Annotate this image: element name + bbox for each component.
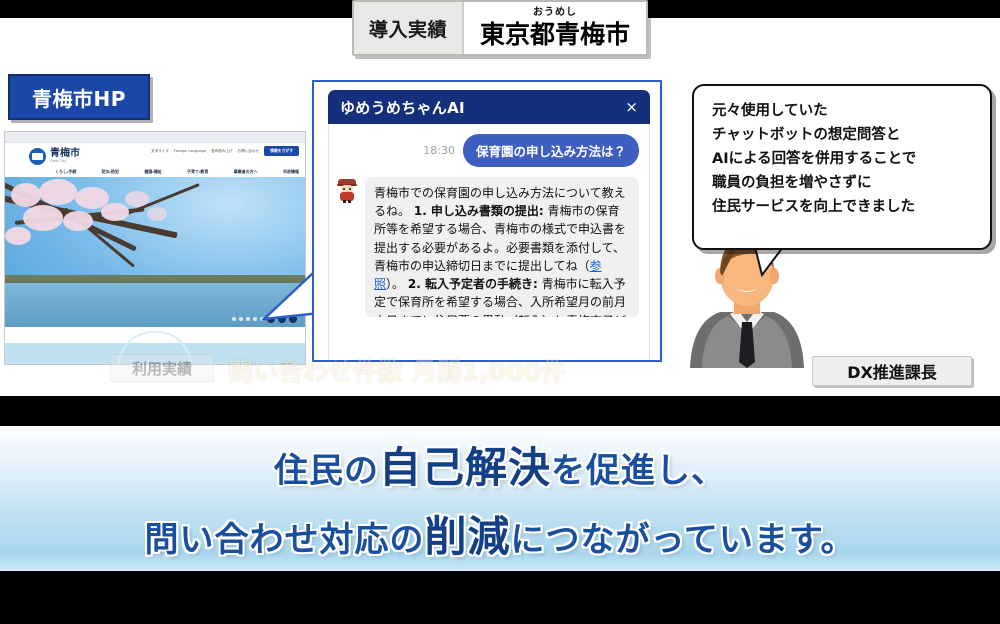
bot-avatar-mascot-icon (337, 179, 359, 205)
banner-line-1: 住民の自己解決を促進し、 (274, 434, 726, 495)
chat-title: ゆめうめちゃんAI (340, 97, 465, 118)
bot-item2-label: 2. 転入予定者の手続き: (408, 277, 538, 291)
person-nameplate: DX推進課長 (812, 356, 972, 386)
heading-plate: 導入実績 おうめし 東京都青梅市 (352, 0, 648, 56)
testimonial-balloon: 元々使用していた チャットボットの想定問答と AIによる回答を併用することで 職… (692, 84, 992, 250)
usage-stats-tag: 利用実績 (110, 354, 214, 382)
gnav-item-3[interactable]: 子育て・教育 (187, 169, 208, 175)
site-header: 青梅市 Ome City 文字サイズ Foreign Language 音声読み… (5, 143, 305, 177)
top-stage: 導入実績 おうめし 東京都青梅市 青梅市HP 青梅市 Ome City 文字サイ… (0, 0, 1000, 396)
conclusion-banner: 住民の自己解決を促進し、 問い合わせ対応の削減につながっています。 (0, 426, 1000, 571)
chat-panel: ゆめうめちゃんAI × 18:30 保育園の申し込み方法は？ 青梅市での保育園の… (328, 90, 650, 360)
bottom-black-band (0, 571, 1000, 624)
utility-item-0[interactable]: 文字サイズ (151, 149, 169, 154)
message-timestamp: 18:30 (423, 144, 455, 157)
gnav-item-0[interactable]: くらし・手続 (55, 169, 76, 175)
site-global-nav[interactable]: くらし・手続 防災・防犯 健康・福祉 子育て・教育 事業者の方へ 市政情報 (55, 169, 299, 175)
chat-message-list[interactable]: 18:30 保育園の申し込み方法は？ 青梅市での保育園の申し込み方法について教え… (328, 124, 650, 360)
gnav-item-4[interactable]: 事業者の方へ (234, 169, 258, 175)
website-screenshot[interactable]: 青梅市 Ome City 文字サイズ Foreign Language 音声読み… (4, 131, 306, 365)
usage-stats-value: 問い合わせ件数 月間1,000件 (228, 352, 566, 388)
balloon-line-1: チャットボットの想定問答と (712, 124, 976, 146)
heading-title: 東京都青梅市 (480, 15, 630, 51)
bot-message-bubble: 青梅市での保育園の申し込み方法について教えるね。 1. 申し込み書類の提出: 青… (365, 177, 639, 317)
balloon-line-4: 住民サービスを向上できました (712, 196, 976, 218)
site-logo[interactable]: 青梅市 Ome City (29, 148, 80, 165)
heading-title-box: おうめし 東京都青梅市 (462, 2, 646, 54)
hp-tag-label: 青梅市HP (32, 83, 126, 112)
site-search-button[interactable]: 情報をさがす (264, 146, 299, 156)
banner-line2-highlight: 削減 (425, 512, 511, 561)
utility-item-3[interactable]: お問い合わせ (238, 149, 260, 154)
balloon-line-2: AIによる回答を併用することで (712, 148, 976, 170)
balloon-line-0: 元々使用していた (712, 100, 976, 122)
section-divider (0, 396, 1000, 426)
user-message-bubble: 保育園の申し込み方法は？ (463, 134, 639, 167)
hp-tag: 青梅市HP (8, 74, 150, 120)
gnav-item-1[interactable]: 防災・防犯 (102, 169, 119, 175)
banner-line1-highlight: 自己解決 (379, 443, 551, 492)
heading-badge: 導入実績 (354, 2, 462, 54)
banner-line1-part-c: を促進し、 (551, 451, 726, 491)
site-logo-text: 青梅市 Ome City (50, 149, 80, 164)
banner-line2-part-a: 問い合わせ対応の (145, 520, 425, 560)
gnav-item-2[interactable]: 健康・福祉 (144, 169, 161, 175)
chat-row-user: 18:30 保育園の申し込み方法は？ (337, 134, 639, 167)
utility-item-1[interactable]: Foreign Language (174, 149, 206, 153)
utility-item-2[interactable]: 音声読み上げ (211, 149, 233, 154)
chat-row-bot: 青梅市での保育園の申し込み方法について教えるね。 1. 申し込み書類の提出: 青… (337, 177, 639, 317)
site-hero-photo (5, 177, 305, 327)
gnav-item-5[interactable]: 市政情報 (283, 169, 299, 175)
ome-city-emblem-icon (29, 148, 46, 165)
chat-header: ゆめうめちゃんAI × (328, 90, 650, 124)
banner-line1-part-a: 住民の (274, 451, 379, 491)
banner-line2-part-c: につながっています。 (511, 520, 856, 560)
balloon-line-3: 職員の負担を増やさずに (712, 172, 976, 194)
person-illustration (672, 236, 822, 368)
person-nameplate-label: DX推進課長 (847, 359, 937, 383)
site-utility-nav[interactable]: 文字サイズ Foreign Language 音声読み上げ お問い合わせ 情報を… (151, 146, 299, 156)
banner-line-2: 問い合わせ対応の削減につながっています。 (145, 503, 856, 564)
bot-item1-tail: ）。 (386, 277, 404, 291)
close-icon[interactable]: × (625, 100, 638, 115)
heading-ruby: おうめし (464, 3, 646, 18)
bot-item1-label: 1. 申し込み書類の提出: (414, 204, 544, 218)
browser-chrome-bar (5, 132, 305, 143)
chat-window[interactable]: ゆめうめちゃんAI × 18:30 保育園の申し込み方法は？ 青梅市での保育園の… (312, 80, 662, 362)
